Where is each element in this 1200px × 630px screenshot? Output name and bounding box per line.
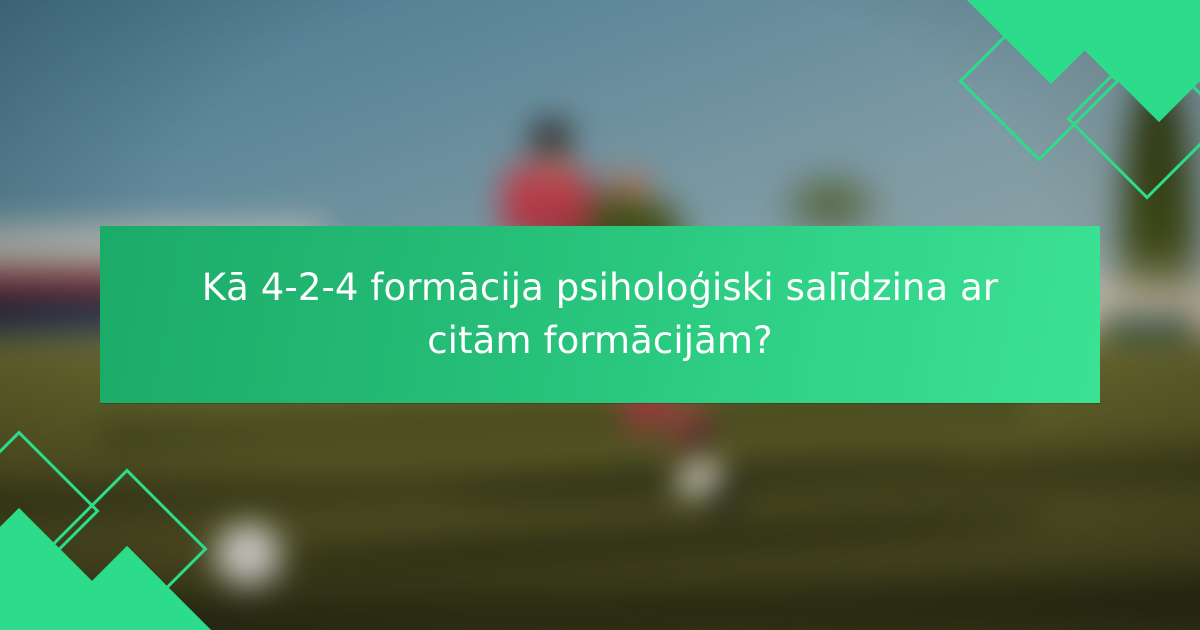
player-head (531, 120, 571, 154)
bush-right (772, 165, 891, 233)
share-card: Kā 4-2-4 formācija psiholoģiski salīdzin… (0, 0, 1200, 630)
headline-banner: Kā 4-2-4 formācija psiholoģiski salīdzin… (100, 226, 1100, 403)
player-face (542, 154, 568, 176)
headline-text: Kā 4-2-4 formācija psiholoģiski salīdzin… (170, 262, 1030, 367)
soccer-ball-patch (238, 544, 260, 564)
